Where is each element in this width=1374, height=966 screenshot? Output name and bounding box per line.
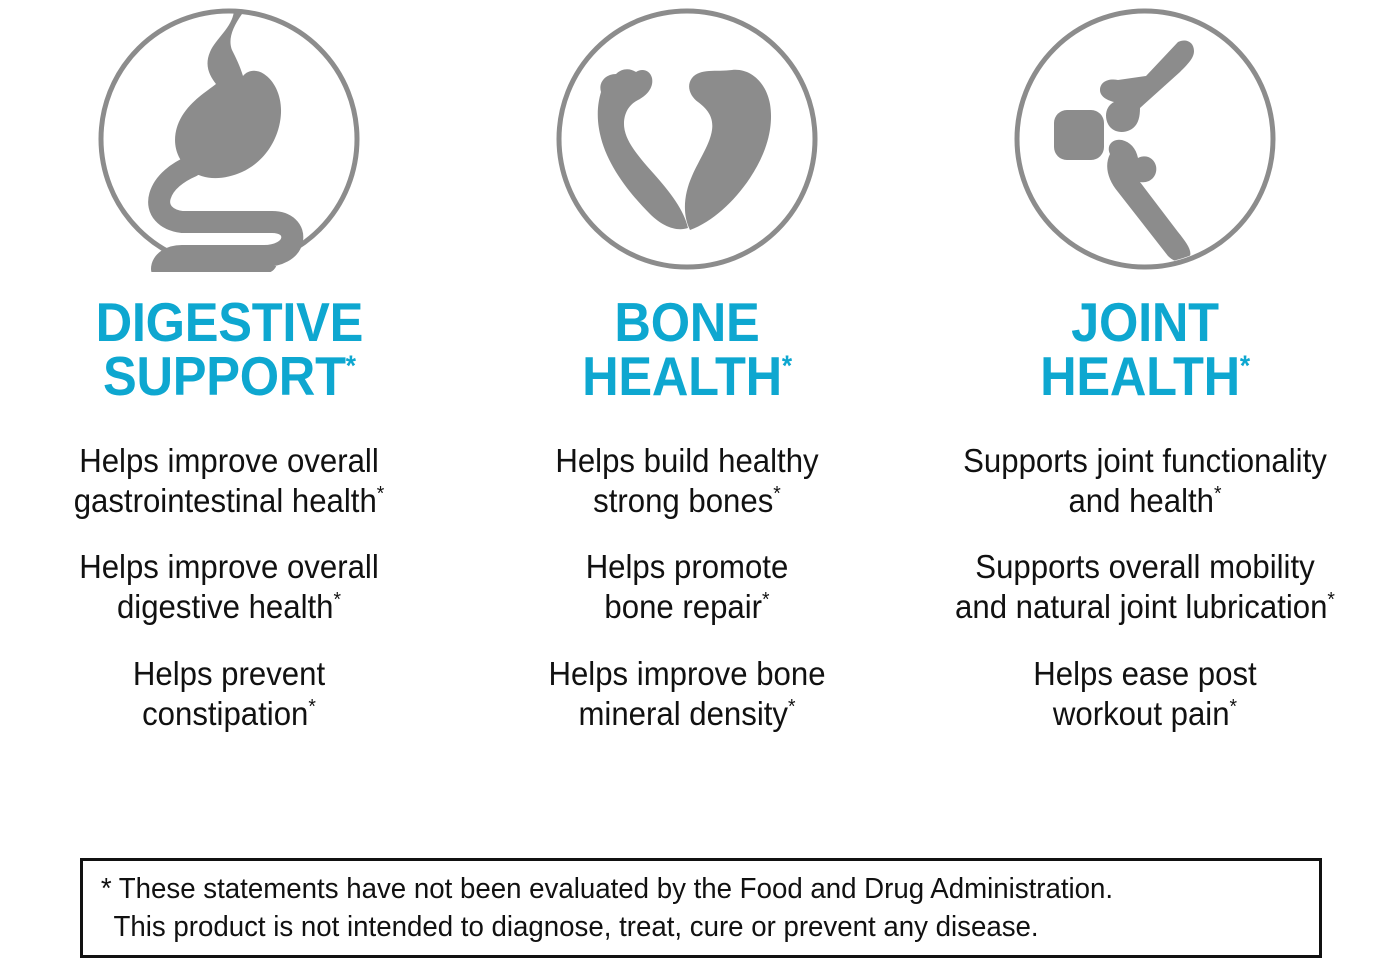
benefit-list-digestive: Helps improve overall gastrointestinal h… — [0, 442, 458, 761]
benefit-item: Supports joint functionality and health* — [932, 442, 1358, 522]
benefit-item: Helps improve overall gastrointestinal h… — [16, 442, 442, 522]
asterisk-mark: * — [345, 351, 355, 383]
benefit-item: Helps improve overall digestive health* — [16, 548, 442, 628]
benefit-item: Helps prevent constipation* — [16, 655, 442, 735]
benefit-item: Helps improve bone mineral density* — [474, 655, 900, 735]
benefit-list-joint: Supports joint functionality and health*… — [916, 442, 1374, 761]
benefit-column-joint: JOINT HEALTH* Supports joint functionali… — [916, 0, 1374, 761]
asterisk-mark: * — [762, 588, 770, 611]
asterisk-mark: * — [1214, 482, 1222, 505]
fda-disclaimer-box: * These statements have not been evaluat… — [80, 858, 1322, 958]
benefit-title-joint: JOINT HEALTH* — [1040, 296, 1250, 404]
benefits-columns: DIGESTIVE SUPPORT* Helps improve overall… — [0, 0, 1374, 840]
benefit-title-digestive: DIGESTIVE SUPPORT* — [95, 296, 362, 404]
asterisk-mark: * — [1327, 588, 1335, 611]
benefit-column-digestive: DIGESTIVE SUPPORT* Helps improve overall… — [0, 0, 458, 761]
flexed-bicep-icon — [554, 6, 820, 272]
asterisk-mark: * — [377, 482, 385, 505]
benefit-item: Helps build healthy strong bones* — [474, 442, 900, 522]
benefit-list-bone: Helps build healthy strong bones* Helps … — [458, 442, 916, 761]
asterisk-mark: * — [308, 695, 316, 718]
asterisk-mark: * — [788, 695, 796, 718]
digestive-system-icon — [96, 6, 362, 272]
asterisk-mark: * — [782, 351, 792, 383]
asterisk-mark: * — [1230, 695, 1238, 718]
benefit-item: Supports overall mobility and natural jo… — [932, 548, 1358, 628]
benefit-column-bone: BONE HEALTH* Helps build healthy strong … — [458, 0, 916, 761]
fda-disclaimer-text: * These statements have not been evaluat… — [96, 870, 1125, 947]
asterisk-mark: * — [333, 588, 341, 611]
asterisk-mark: * — [773, 482, 781, 505]
asterisk-mark: * — [1240, 351, 1250, 383]
knee-joint-bone-icon — [1012, 6, 1278, 272]
benefit-item: Helps promote bone repair* — [474, 548, 900, 628]
benefit-title-bone: BONE HEALTH* — [582, 296, 792, 404]
benefit-item: Helps ease post workout pain* — [932, 655, 1358, 735]
